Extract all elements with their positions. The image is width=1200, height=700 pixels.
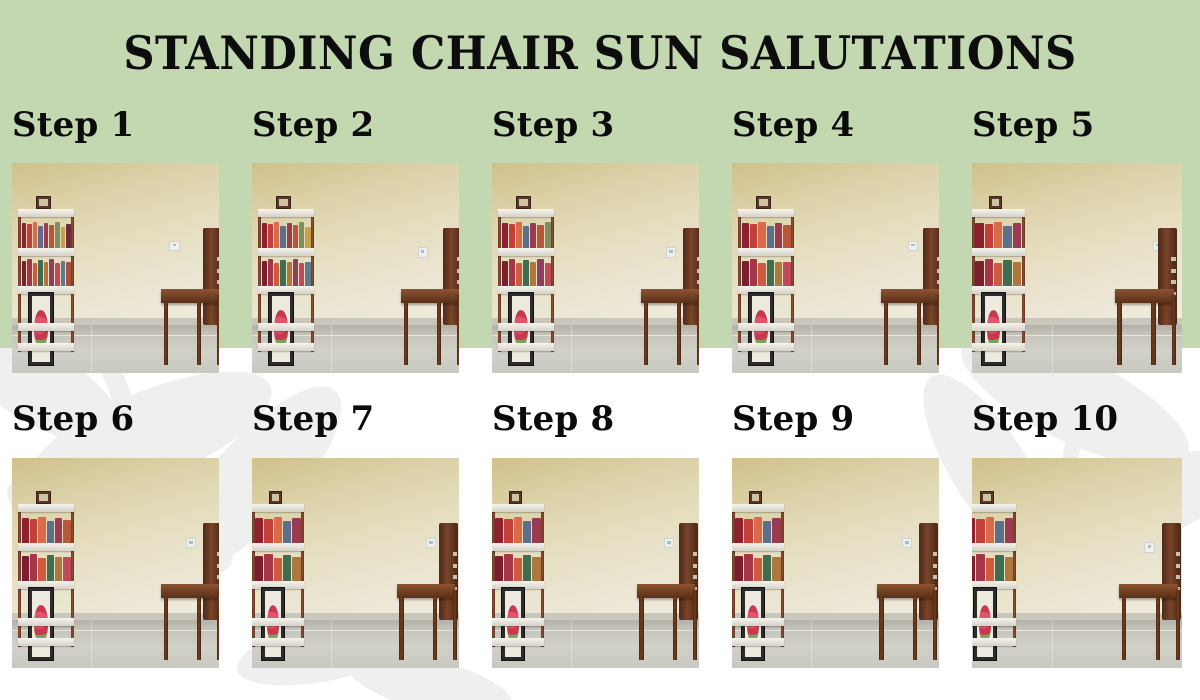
books-row: [22, 221, 71, 248]
step-cell-10[interactable]: Step 10: [960, 395, 1200, 685]
light-switch-icon: [418, 247, 428, 258]
wooden-chair: [641, 260, 699, 365]
step-cell-7[interactable]: Step 7: [240, 395, 480, 685]
wooden-chair: [877, 555, 939, 660]
framed-picture: [269, 491, 282, 504]
step-photo-9: [732, 458, 939, 668]
step-photo-6: [12, 458, 219, 668]
framed-picture: [516, 196, 531, 209]
infographic-canvas: STANDING CHAIR SUN SALUTATIONS Step 1: [0, 0, 1200, 700]
light-switch-icon: [169, 241, 179, 252]
wooden-chair: [881, 260, 939, 365]
step-cell-6[interactable]: Step 6: [0, 395, 240, 685]
bookshelf: [738, 209, 794, 352]
wooden-chair: [401, 260, 459, 365]
framed-picture: [276, 196, 291, 209]
bookshelf: [258, 209, 314, 352]
wooden-chair: [637, 555, 699, 660]
step-cell-9[interactable]: Step 9: [720, 395, 960, 685]
step-label-5: Step 5: [972, 108, 1094, 142]
bookshelf: [18, 209, 74, 352]
step-photo-10: [972, 458, 1182, 668]
step-label-1: Step 1: [12, 108, 134, 142]
step-label-8: Step 8: [492, 402, 614, 436]
bookshelf: [972, 209, 1025, 352]
step-label-2: Step 2: [252, 108, 374, 142]
light-switch-icon: [902, 538, 912, 549]
light-switch-icon: [664, 538, 674, 549]
step-cell-4[interactable]: Step 4: [720, 100, 960, 375]
light-switch-icon: [186, 538, 196, 549]
step-label-7: Step 7: [252, 402, 374, 436]
step-photo-7: [252, 458, 459, 668]
step-cell-8[interactable]: Step 8: [480, 395, 720, 685]
wooden-chair: [397, 555, 459, 660]
wooden-chair: [161, 555, 219, 660]
framed-picture: [756, 196, 771, 209]
bookshelf: [498, 209, 554, 352]
step-label-3: Step 3: [492, 108, 614, 142]
step-cell-3[interactable]: Step 3: [480, 100, 720, 375]
page-title: STANDING CHAIR SUN SALUTATIONS: [36, 26, 1164, 80]
bookshelf: [492, 504, 544, 647]
step-cell-5[interactable]: Step 5: [960, 100, 1200, 375]
step-label-4: Step 4: [732, 108, 854, 142]
step-photo-1: [12, 163, 219, 373]
step-photo-2: [252, 163, 459, 373]
framed-picture: [980, 491, 994, 504]
step-photo-4: [732, 163, 939, 373]
framed-picture: [749, 491, 762, 504]
bookshelf: [732, 504, 784, 647]
step-label-9: Step 9: [732, 402, 854, 436]
framed-picture: [989, 196, 1003, 209]
bookshelf: [18, 504, 74, 647]
light-switch-icon: [908, 241, 918, 252]
step-label-6: Step 6: [12, 402, 134, 436]
framed-picture: [509, 491, 522, 504]
step-photo-8: [492, 458, 699, 668]
wooden-chair: [161, 260, 219, 365]
light-switch-icon: [426, 538, 436, 549]
framed-picture: [36, 196, 51, 209]
light-switch-icon: [1144, 542, 1155, 553]
step-photo-3: [492, 163, 699, 373]
light-switch-icon: [666, 247, 676, 258]
books-row: [22, 258, 71, 287]
framed-picture: [36, 491, 51, 504]
bookshelf: [252, 504, 304, 647]
wooden-chair: [1115, 260, 1178, 365]
step-cell-1[interactable]: Step 1: [0, 100, 240, 375]
step-photo-5: [972, 163, 1182, 373]
bookshelf: [972, 504, 1016, 647]
steps-row-bottom: Step 6: [0, 395, 1200, 685]
wooden-chair: [1119, 555, 1182, 660]
steps-row-top: Step 1: [0, 100, 1200, 375]
step-cell-2[interactable]: Step 2: [240, 100, 480, 375]
step-label-10: Step 10: [972, 402, 1118, 436]
